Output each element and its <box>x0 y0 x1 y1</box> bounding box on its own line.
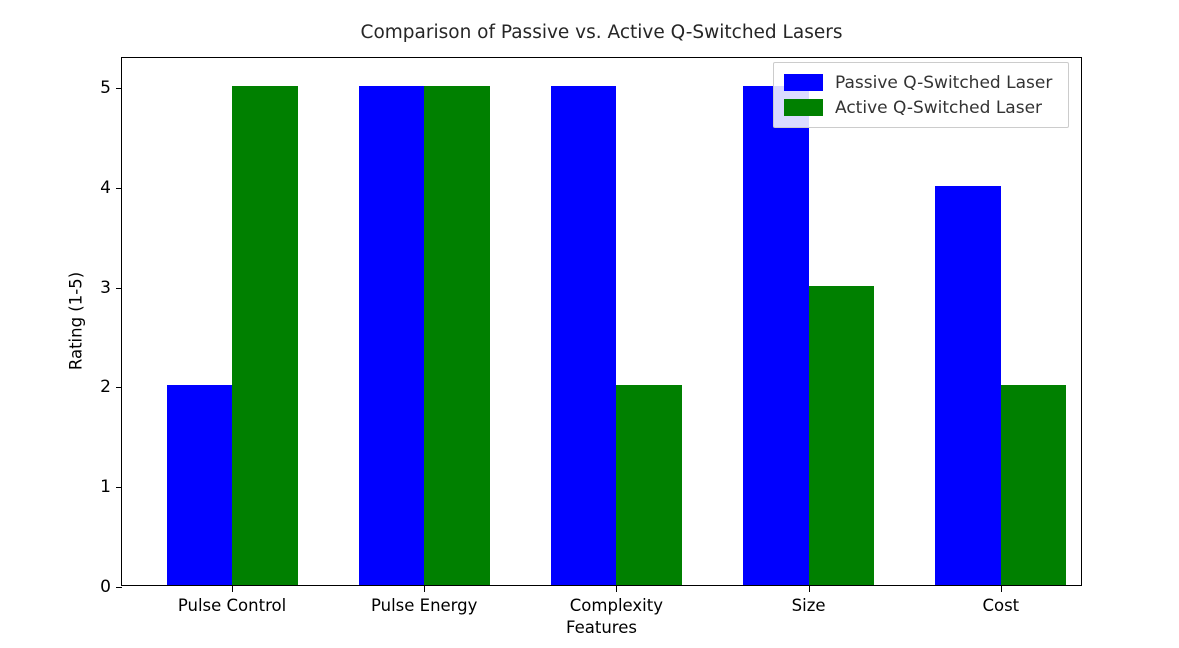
y-tick-label: 4 <box>100 178 111 198</box>
legend-swatch-icon <box>784 99 823 116</box>
x-tick-mark <box>1001 585 1002 592</box>
y-tick-mark <box>116 288 123 289</box>
legend-entry-1: Active Q-Switched Laser <box>784 95 1058 120</box>
chart-title: Comparison of Passive vs. Active Q-Switc… <box>121 22 1082 43</box>
matplotlib-figure: Comparison of Passive vs. Active Q-Switc… <box>0 0 1179 648</box>
x-tick-mark <box>424 585 425 592</box>
bar-pulse-control-series-1 <box>232 86 298 585</box>
x-tick-label: Complexity <box>570 596 663 615</box>
y-tick-mark <box>116 587 123 588</box>
legend-label: Active Q-Switched Laser <box>835 98 1042 118</box>
x-tick-mark <box>809 585 810 592</box>
plot-area: 012345 Pulse ControlPulse EnergyComplexi… <box>121 57 1082 586</box>
y-tick-label: 2 <box>100 377 111 397</box>
y-axis-label: Rating (1-5) <box>67 241 86 401</box>
bar-complexity-series-1 <box>616 385 682 585</box>
y-tick-mark <box>116 188 123 189</box>
bar-complexity-series-0 <box>551 86 617 585</box>
bar-cost-series-1 <box>1001 385 1067 585</box>
bar-pulse-control-series-0 <box>167 385 233 585</box>
x-axis-label: Features <box>121 618 1082 637</box>
bar-size-series-1 <box>809 286 875 585</box>
x-tick-label: Cost <box>982 596 1019 615</box>
bar-pulse-energy-series-1 <box>424 86 490 585</box>
y-tick-label: 0 <box>100 577 111 597</box>
x-tick-label: Size <box>792 596 826 615</box>
bar-cost-series-0 <box>935 186 1001 585</box>
y-tick-mark <box>116 88 123 89</box>
x-tick-label: Pulse Control <box>178 596 286 615</box>
x-tick-label: Pulse Energy <box>371 596 477 615</box>
chart-legend: Passive Q-Switched LaserActive Q-Switche… <box>773 62 1069 128</box>
y-tick-mark <box>116 387 123 388</box>
y-tick-label: 3 <box>100 278 111 298</box>
legend-swatch-icon <box>784 74 823 91</box>
bar-pulse-energy-series-0 <box>359 86 425 585</box>
legend-entry-0: Passive Q-Switched Laser <box>784 70 1058 95</box>
x-tick-mark <box>616 585 617 592</box>
y-tick-label: 5 <box>100 78 111 98</box>
legend-label: Passive Q-Switched Laser <box>835 73 1052 93</box>
bar-size-series-0 <box>743 86 809 585</box>
y-tick-label: 1 <box>100 477 111 497</box>
y-tick-mark <box>116 487 123 488</box>
x-tick-mark <box>232 585 233 592</box>
